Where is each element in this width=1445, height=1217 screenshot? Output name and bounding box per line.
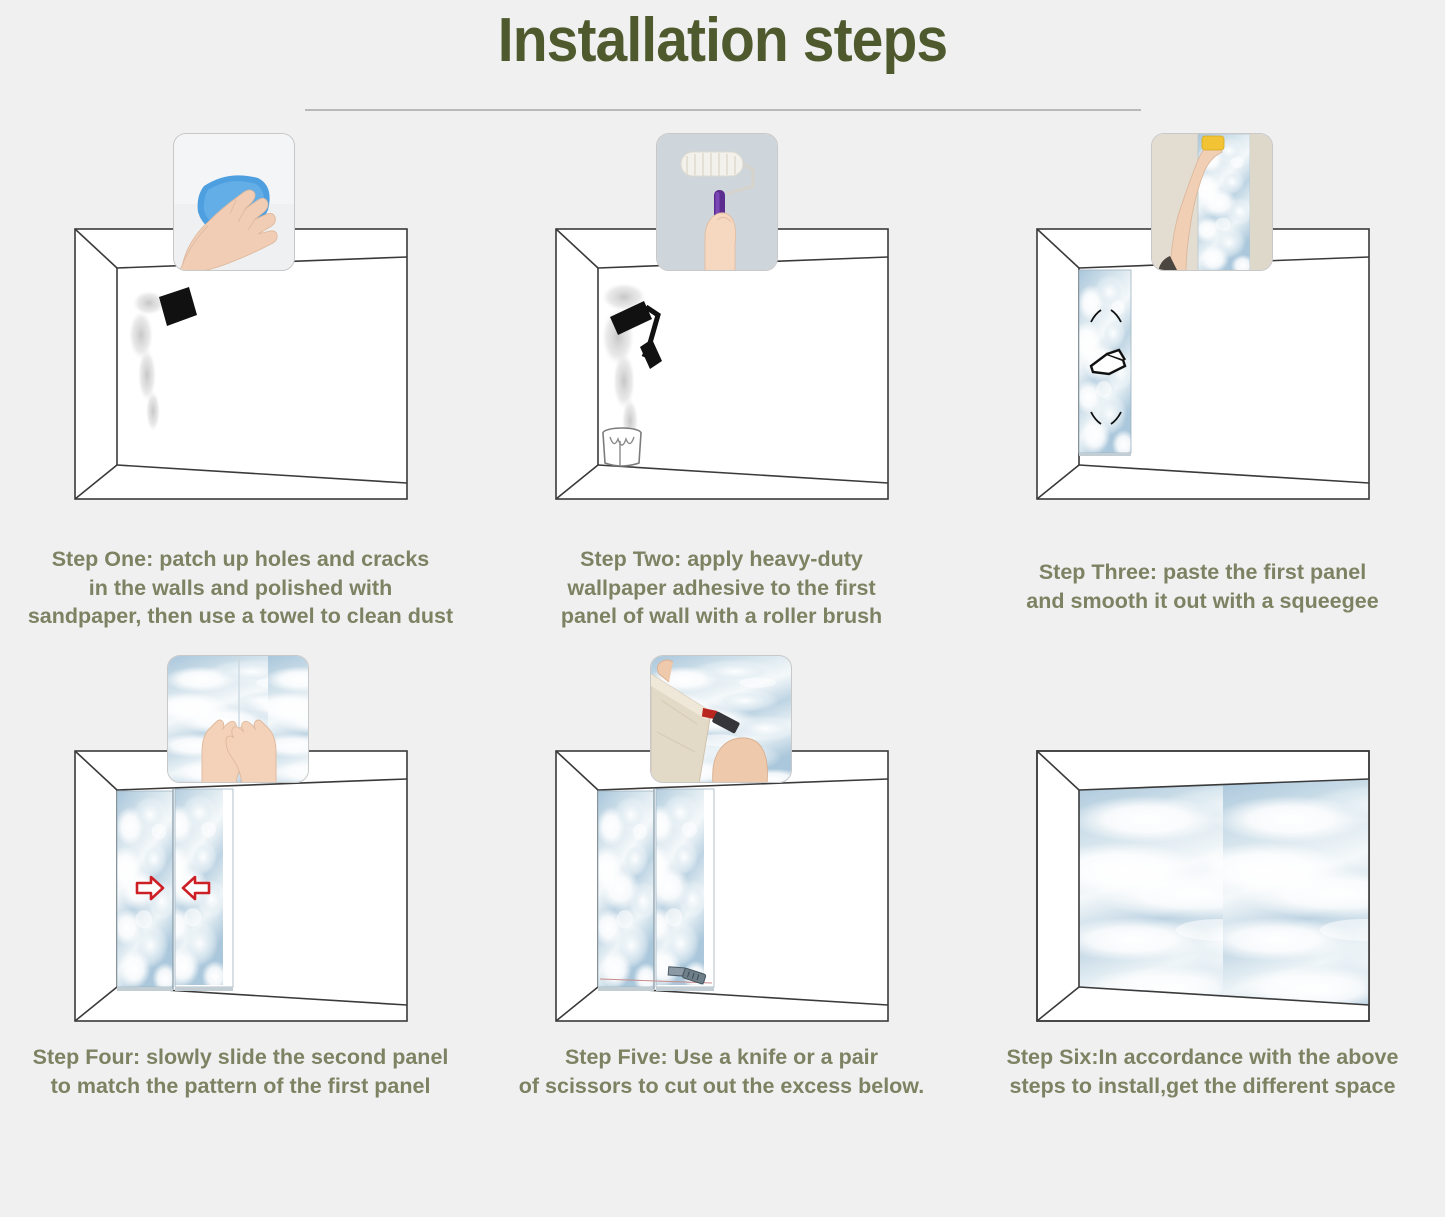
caption-line: Step Three: paste the first panel xyxy=(970,558,1435,587)
hand-rolling-roller-photo xyxy=(657,134,777,270)
knife-cutting-wallpaper-photo xyxy=(651,656,791,782)
caption-line: wallpaper adhesive to the first xyxy=(489,574,954,603)
step-cell-one: Step One: patch up holes and cracks in t… xyxy=(0,133,481,643)
room-diagram-one xyxy=(71,133,411,433)
caption-line: steps to install,get the different space xyxy=(970,1072,1435,1101)
caption-line: in the walls and polished with xyxy=(8,574,473,603)
room-diagram-three xyxy=(1033,133,1373,433)
room-perspective-four xyxy=(71,747,411,1025)
title-divider xyxy=(305,109,1141,111)
step-cell-three: Step Three: paste the first panel and sm… xyxy=(962,133,1443,643)
hand-wiping-wall-photo xyxy=(174,134,294,270)
caption-line: sandpaper, then use a towel to clean dus… xyxy=(8,602,473,631)
caption-line: to match the pattern of the first panel xyxy=(8,1072,473,1101)
room-diagram-two xyxy=(552,133,892,433)
caption-line: Step Six:In accordance with the above xyxy=(970,1043,1435,1072)
caption-step-two: Step Two: apply heavy-duty wallpaper adh… xyxy=(481,545,962,631)
two-hands-smoothing-seam-photo xyxy=(168,656,308,782)
paint-bucket-outline xyxy=(603,428,641,466)
inset-photo-one xyxy=(173,133,295,271)
caption-line: Step Five: Use a knife or a pair xyxy=(489,1043,954,1072)
room-diagram-four xyxy=(71,655,411,955)
caption-step-four: Step Four: slowly slide the second panel… xyxy=(0,1043,481,1100)
cloud-panel-first xyxy=(589,791,658,994)
inset-photo-four xyxy=(167,655,309,783)
caption-line: Step One: patch up holes and cracks xyxy=(8,545,473,574)
room-perspective-six xyxy=(1033,747,1373,1025)
caption-line: Step Four: slowly slide the second panel xyxy=(8,1043,473,1072)
inset-photo-two xyxy=(656,133,778,271)
step-cell-six: Step Six:In accordance with the above st… xyxy=(962,643,1443,1153)
room-diagram-six xyxy=(1033,655,1373,955)
room-perspective-five xyxy=(552,747,892,1025)
caption-line: panel of wall with a roller brush xyxy=(489,602,954,631)
page-title: Installation steps xyxy=(58,0,1387,73)
caption-line: of scissors to cut out the excess below. xyxy=(489,1072,954,1101)
caption-line: and smooth it out with a squeegee xyxy=(970,587,1435,616)
inset-photo-five xyxy=(650,655,792,783)
caption-step-six: Step Six:In accordance with the above st… xyxy=(962,1043,1443,1100)
step-cell-four: Step Four: slowly slide the second panel… xyxy=(0,643,481,1153)
room-diagram-five xyxy=(552,655,892,955)
caption-step-one: Step One: patch up holes and cracks in t… xyxy=(0,545,481,631)
caption-line: Step Two: apply heavy-duty xyxy=(489,545,954,574)
hands-applying-panel-photo xyxy=(1152,134,1272,270)
caption-step-five: Step Five: Use a knife or a pair of scis… xyxy=(481,1043,962,1100)
step-cell-five: Step Five: Use a knife or a pair of scis… xyxy=(481,643,962,1153)
inset-photo-three xyxy=(1151,133,1273,271)
cloud-wall-complete xyxy=(1034,777,1372,1019)
caption-step-three: Step Three: paste the first panel and sm… xyxy=(962,558,1443,615)
step-cell-two: Step Two: apply heavy-duty wallpaper adh… xyxy=(481,133,962,643)
installation-steps-grid: Step One: patch up holes and cracks in t… xyxy=(0,133,1445,1153)
